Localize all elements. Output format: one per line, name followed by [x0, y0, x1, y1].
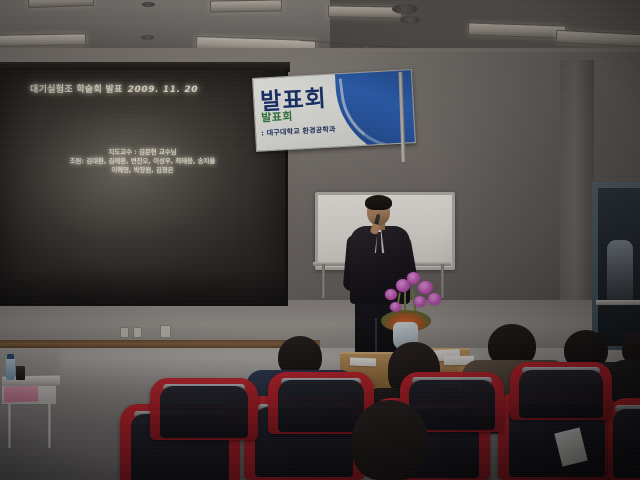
lecture-hall-photo: 대기실험조 학술회 발표2009. 11. 20 지도교수 : 김문현 교수님 … [0, 0, 640, 480]
audience-head [352, 400, 428, 480]
ceiling-light-panel [328, 5, 402, 18]
orchid-bloom [407, 272, 420, 284]
slide-body: 지도교수 : 김문현 교수님 조원: 김대환, 김래환, 변진오, 이성우, 최… [0, 148, 285, 175]
table-papers [350, 358, 376, 367]
whiteboard-leg [322, 264, 325, 298]
slide-title: 대기실험조 학술회 발표2009. 11. 20 [30, 82, 260, 95]
orchid-bloom [390, 302, 401, 312]
event-banner: 발표회 발표회 : 대구대학교 환경공학과 [252, 69, 414, 156]
chair-seatback [519, 370, 603, 419]
ceiling-light-panel [0, 33, 86, 47]
slide-advisor-line: 지도교수 : 김문현 교수님 [0, 148, 285, 157]
screen-shadow [0, 266, 285, 306]
ceiling-smoke-detector-icon [142, 2, 155, 7]
chair-seatback [613, 409, 640, 478]
orchid-bloom [385, 289, 397, 300]
orchid-bloom [418, 281, 433, 294]
auditorium-chair[interactable] [608, 398, 640, 480]
ceiling-light-panel [210, 0, 282, 13]
bottle-cap [7, 354, 14, 359]
water-bottle [6, 358, 15, 380]
dark-cup [16, 366, 25, 380]
person-in-doorway [607, 240, 633, 300]
chair-seatback [160, 386, 249, 438]
ceiling-vent-icon [392, 4, 418, 14]
wall-outlet-icon [133, 327, 142, 338]
banner-department: : 대구대학교 환경공학과 [261, 124, 336, 138]
banner-subhead: 발표회 [261, 108, 293, 126]
slide-title-date: 2009. 11. 20 [128, 85, 198, 95]
wall-outlet-icon [120, 327, 129, 338]
pink-paper-sheet [4, 385, 39, 402]
wall-outlet-icon [160, 325, 171, 338]
chair-seatback [278, 380, 365, 432]
ceiling-smoke-detector-icon [141, 35, 154, 40]
orchid-bloom [428, 293, 441, 305]
projection-screen [0, 70, 288, 306]
slide-members-line-1: 조원: 김대환, 김래환, 변진오, 이성우, 최태웅, 송지울 [0, 157, 285, 166]
auditorium-chair[interactable] [510, 362, 612, 420]
banner-board: 발표회 발표회 : 대구대학교 환경공학과 [252, 69, 416, 152]
presenter-hair [365, 195, 392, 210]
doorway-rail [596, 300, 640, 305]
orchid-bloom [414, 296, 426, 307]
slide-members-line-2: 이혜영, 박장원, 김정은 [0, 166, 285, 175]
slide-title-main: 대기실험조 학술회 발표 [30, 85, 123, 95]
whiteboard-leg [441, 264, 444, 298]
ceiling-vent-icon [400, 16, 420, 24]
auditorium-chair[interactable] [150, 378, 258, 440]
